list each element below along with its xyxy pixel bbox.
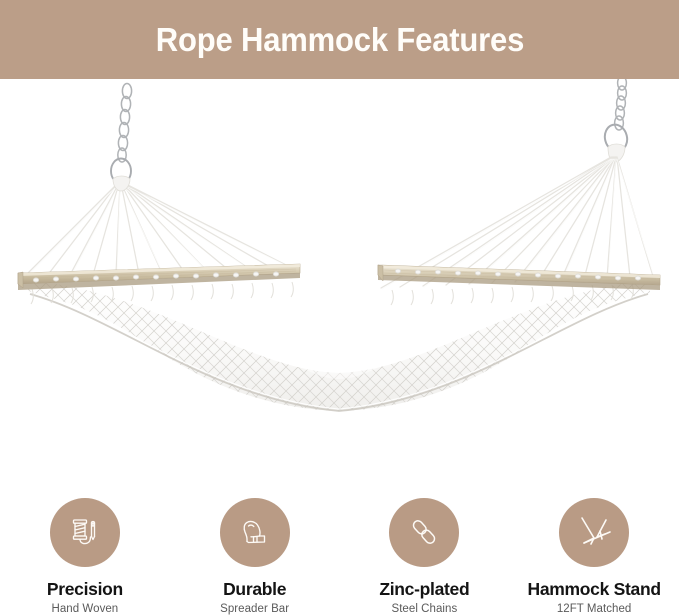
thread-spool-needle-icon xyxy=(65,512,105,552)
feature-title: Durable xyxy=(223,580,286,598)
feature-item-hammock-stand: Hammock Stand 12FT Matched xyxy=(509,485,679,615)
feature-title: Zinc-plated xyxy=(379,580,469,598)
feature-title: Hammock Stand xyxy=(528,580,661,598)
feature-list: Precision Hand Woven xyxy=(0,485,679,615)
right-chain xyxy=(602,79,630,154)
feature-subtitle: 12FT Matched xyxy=(557,603,632,615)
page-title: Rope Hammock Features xyxy=(155,23,523,56)
feature-subtitle: Steel Chains xyxy=(391,603,457,615)
feature-icon-badge xyxy=(220,498,290,567)
infographic-page: Rope Hammock Features xyxy=(0,0,679,615)
left-rope-fan-highlight xyxy=(25,185,299,278)
feature-icon-badge xyxy=(559,498,629,567)
feature-item-durable: Durable Spreader Bar xyxy=(170,485,340,615)
product-hero-image xyxy=(0,79,679,485)
feature-item-zinc-plated: Zinc-plated Steel Chains xyxy=(340,485,510,615)
feature-title: Precision xyxy=(47,580,123,598)
feature-subtitle: Hand Woven xyxy=(51,603,118,615)
header-banner: Rope Hammock Features xyxy=(0,0,679,79)
hammock-stand-icon xyxy=(572,510,616,554)
rope-hammock-illustration xyxy=(0,79,679,485)
flexed-bicep-icon xyxy=(235,512,275,552)
left-rope-fan xyxy=(24,183,298,277)
feature-item-precision: Precision Hand Woven xyxy=(0,485,170,615)
feature-icon-badge xyxy=(50,498,120,567)
feature-subtitle: Spreader Bar xyxy=(220,603,289,615)
left-chain xyxy=(111,84,132,184)
feature-icon-badge xyxy=(389,498,459,567)
chain-links-icon xyxy=(404,512,444,552)
